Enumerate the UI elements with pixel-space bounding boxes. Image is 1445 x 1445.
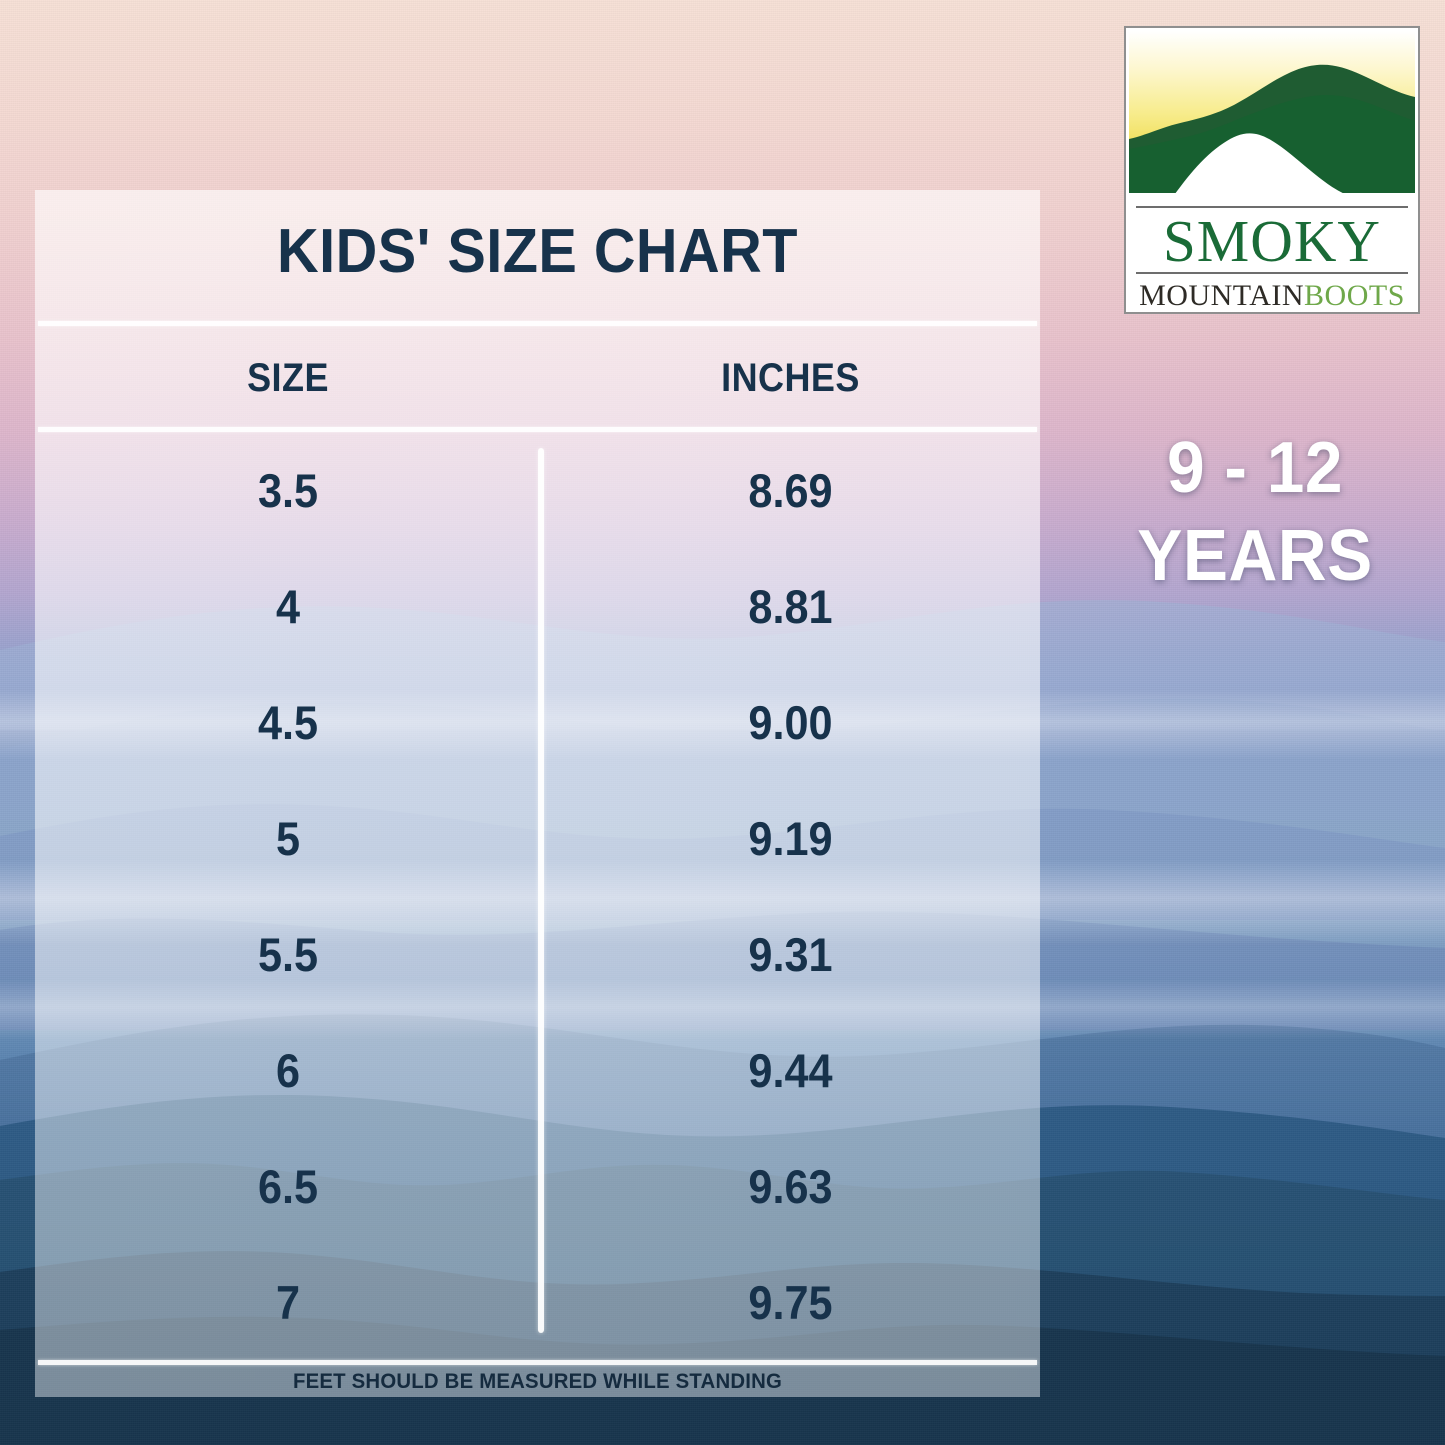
mountain-sunrise-icon	[1129, 31, 1415, 203]
cell-size: 4.5	[55, 695, 521, 750]
table-row: 6 9.44	[35, 1012, 1040, 1128]
table-row: 3.5 8.69	[35, 432, 1040, 548]
cell-inches: 8.69	[561, 463, 1020, 518]
table-row: 4 8.81	[35, 548, 1040, 664]
size-chart-graphic: KIDS' SIZE CHART SIZE INCHES 3.5 8.69 4 …	[0, 0, 1445, 1445]
age-range-line2: YEARS	[1081, 512, 1429, 600]
cell-inches: 9.00	[561, 695, 1020, 750]
logo-subtitle-boots: BOOTS	[1304, 279, 1405, 312]
size-chart-panel: KIDS' SIZE CHART SIZE INCHES 3.5 8.69 4 …	[35, 190, 1040, 1397]
table-row: 5.5 9.31	[35, 896, 1040, 1012]
brand-logo: SMOKY MOUNTAINBOOTS	[1124, 26, 1420, 314]
footer-note: FEET SHOULD BE MEASURED WHILE STANDING	[50, 1370, 1025, 1394]
cell-size: 5.5	[55, 927, 521, 982]
logo-subtitle-mountain: MOUNTAIN	[1139, 279, 1304, 312]
divider-above-footer	[38, 1360, 1037, 1365]
table-row: 4.5 9.00	[35, 664, 1040, 780]
cell-inches: 9.44	[561, 1043, 1020, 1098]
table-row: 6.5 9.63	[35, 1128, 1040, 1244]
cell-size: 6.5	[55, 1159, 521, 1214]
cell-size: 5	[55, 811, 521, 866]
divider-under-title	[38, 321, 1037, 326]
cell-inches: 9.75	[561, 1275, 1020, 1330]
cell-inches: 9.63	[561, 1159, 1020, 1214]
logo-divider-bottom	[1136, 272, 1408, 274]
logo-subtitle: MOUNTAINBOOTS	[1126, 278, 1418, 314]
table-row: 5 9.19	[35, 780, 1040, 896]
cell-size: 7	[55, 1275, 521, 1330]
cell-inches: 9.19	[561, 811, 1020, 866]
table-header-row: SIZE INCHES	[35, 342, 1040, 414]
cell-size: 3.5	[55, 463, 521, 518]
age-range-badge: 9 - 12 YEARS	[1081, 424, 1429, 600]
logo-wordmark: SMOKY	[1126, 210, 1418, 272]
cell-size: 4	[55, 579, 521, 634]
age-range-line1: 9 - 12	[1081, 424, 1429, 512]
column-header-inches: INCHES	[566, 342, 1015, 414]
cell-size: 6	[55, 1043, 521, 1098]
table-row: 7 9.75	[35, 1244, 1040, 1360]
page-title: KIDS' SIZE CHART	[70, 216, 1005, 287]
size-table-body: 3.5 8.69 4 8.81 4.5 9.00 5 9.19 5.5 9.31…	[35, 432, 1040, 1360]
cell-inches: 8.81	[561, 579, 1020, 634]
cell-inches: 9.31	[561, 927, 1020, 982]
column-header-size: SIZE	[60, 342, 515, 414]
